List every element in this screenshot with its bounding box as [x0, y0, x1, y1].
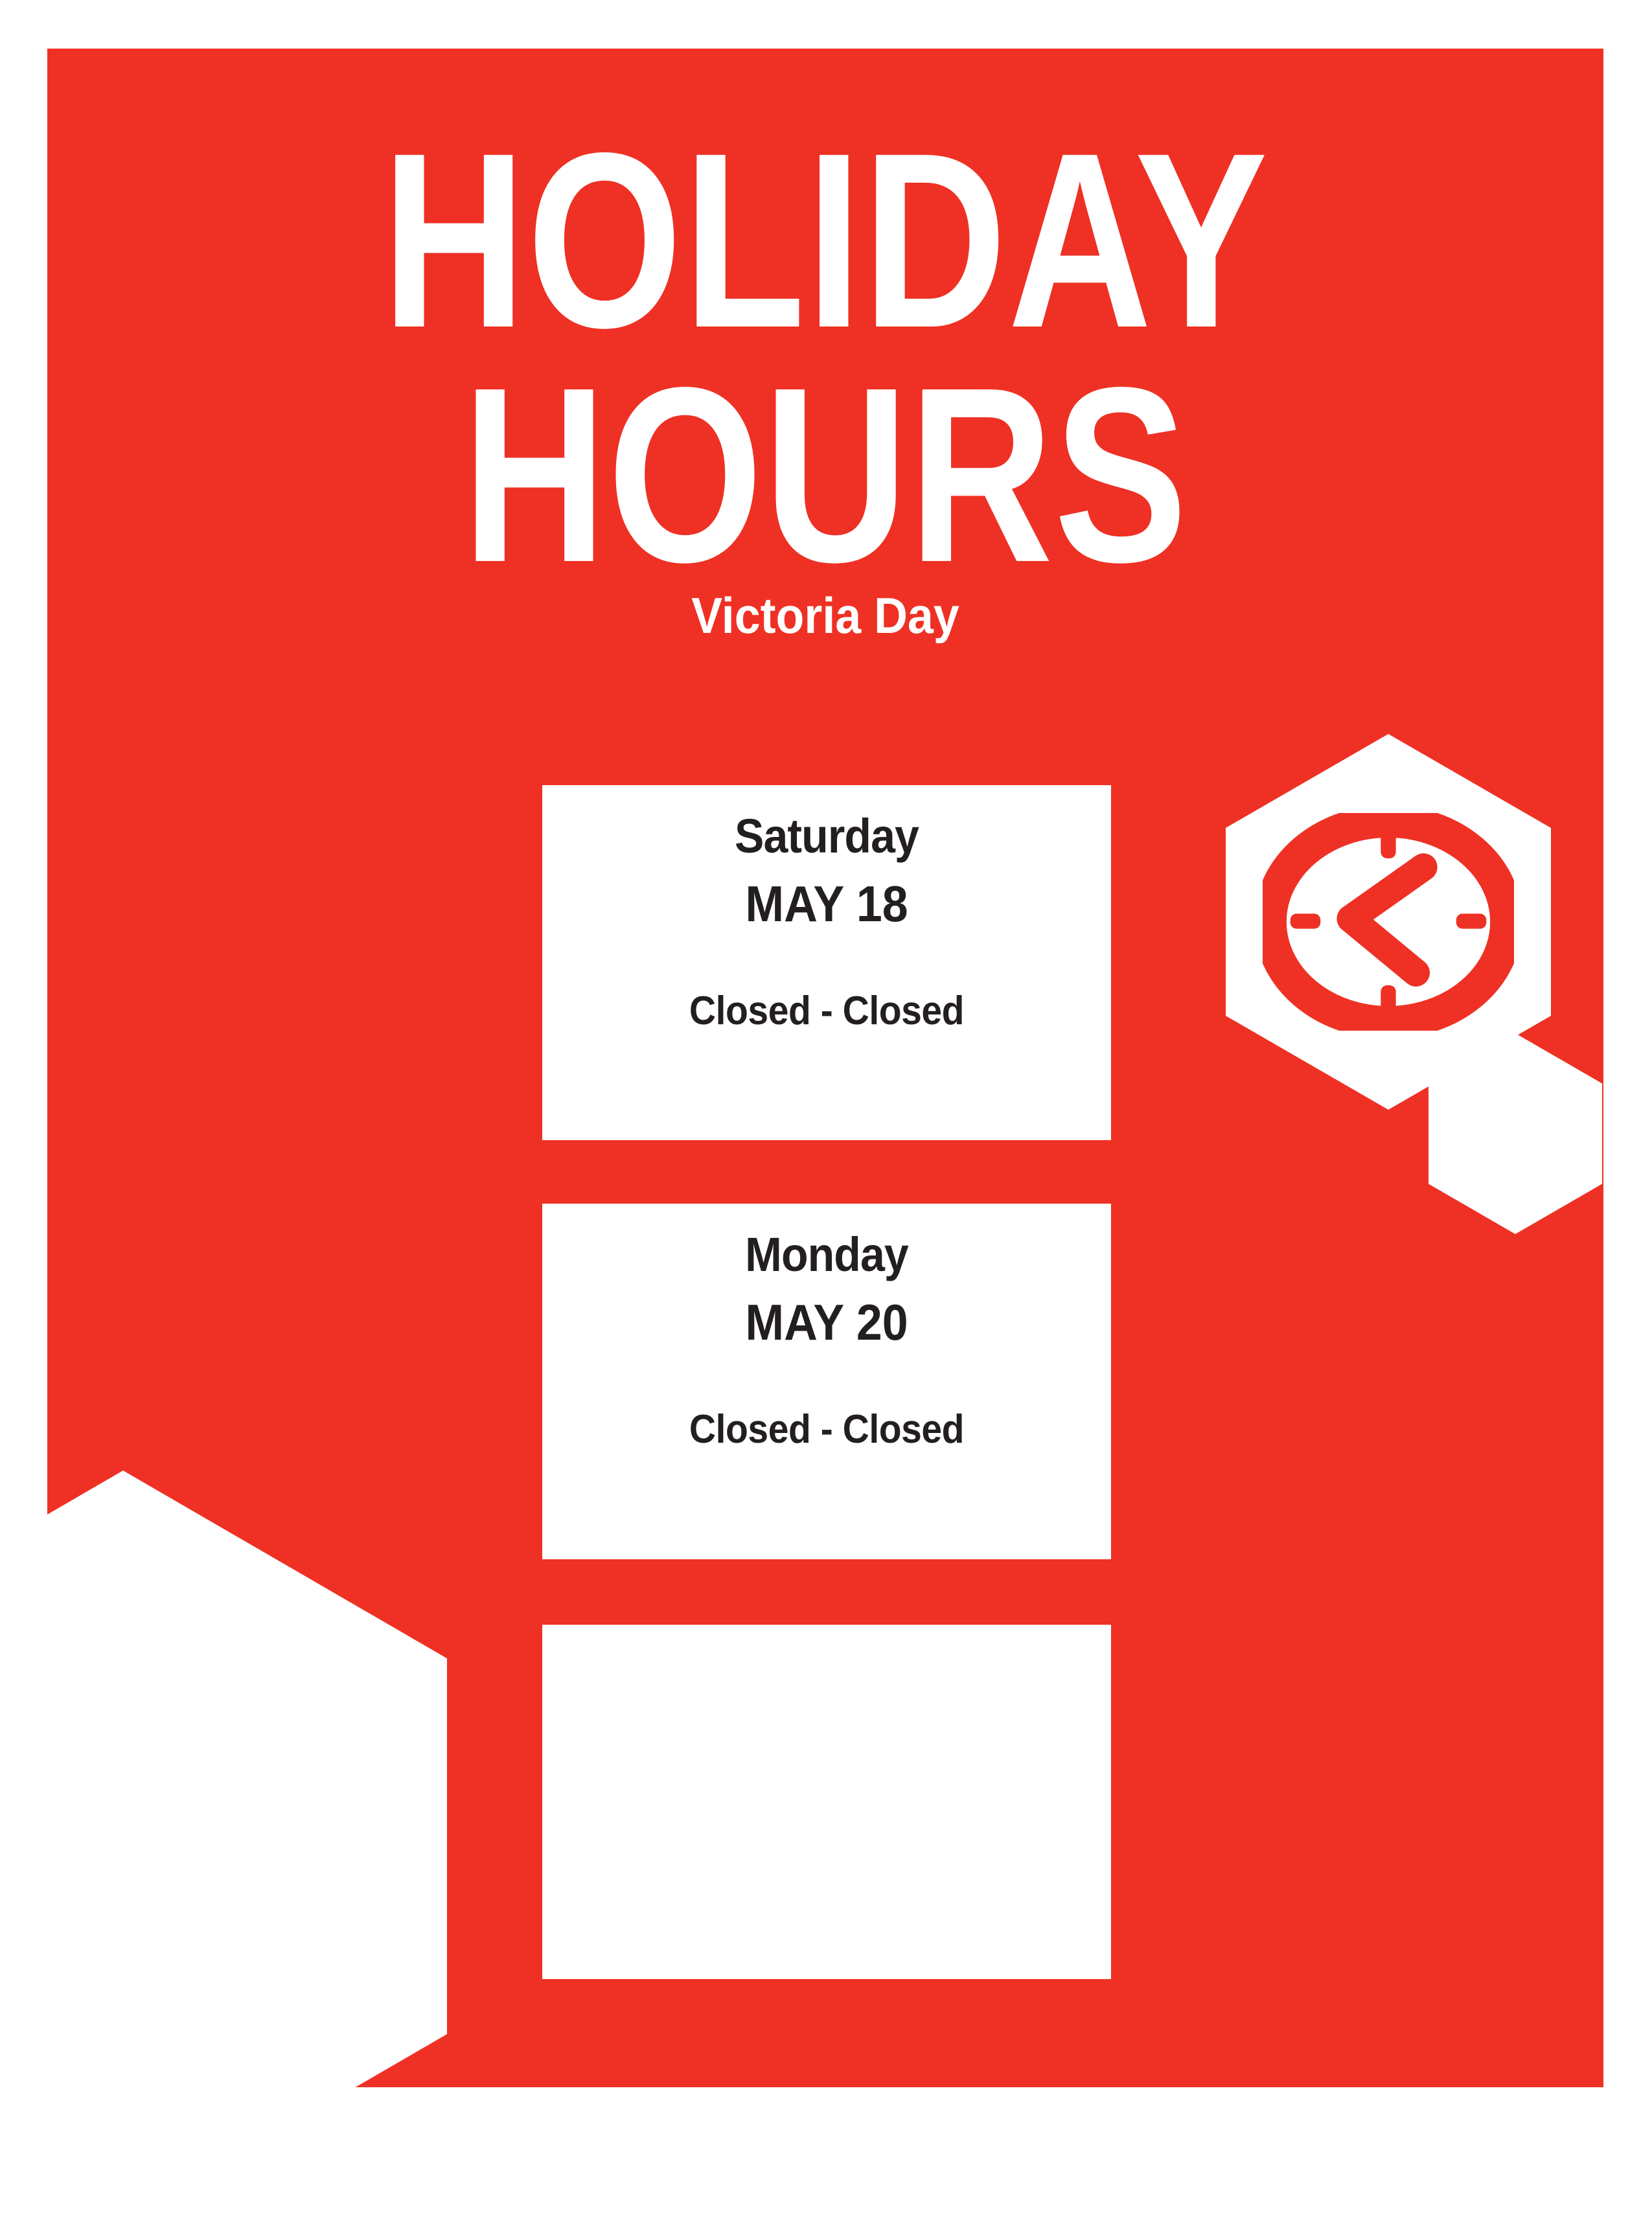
holiday-hours-poster: HOLIDAY HOURS Victoria Day Saturday MAY …: [0, 0, 1652, 2138]
hours-card-blank: [542, 1625, 1111, 1979]
hours-card-monday: Monday MAY 20 Closed - Closed: [542, 1204, 1111, 1559]
card-date-label: MAY 20: [583, 1297, 1071, 1347]
card-day-label: Monday: [583, 1231, 1071, 1279]
card-date-label: MAY 18: [583, 878, 1071, 929]
page-title: HOLIDAY HOURS: [47, 123, 1603, 592]
card-hours-label: Closed - Closed: [583, 1410, 1071, 1450]
card-hours-label: Closed - Closed: [583, 991, 1071, 1031]
page-title-line-1: HOLIDAY: [203, 123, 1448, 358]
clock-icon: [1263, 813, 1514, 1031]
card-day-label: Saturday: [583, 812, 1071, 860]
page-subtitle: Victoria Day: [109, 586, 1541, 645]
hours-card-saturday: Saturday MAY 18 Closed - Closed: [542, 785, 1111, 1140]
page-title-line-2: HOURS: [203, 358, 1448, 592]
